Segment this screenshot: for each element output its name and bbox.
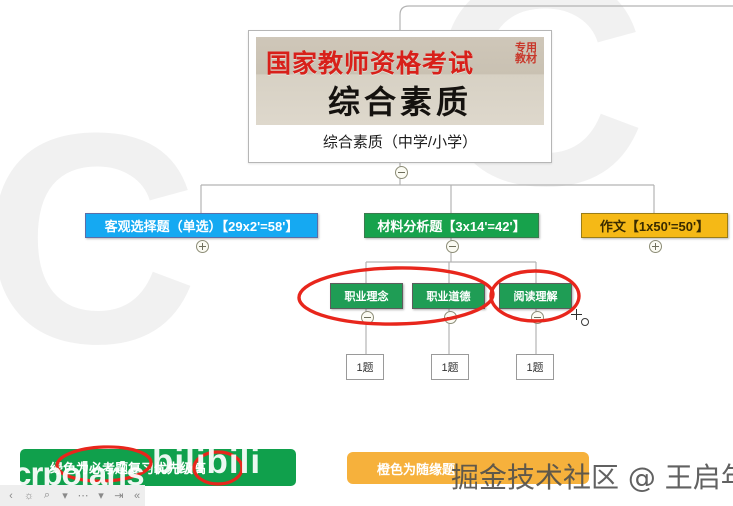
expand-badge-essay[interactable] [649,240,662,253]
search-chevron-down-icon[interactable]: ▾ [57,487,73,504]
banner-orange-note: 橙色为随缘题 [347,452,589,484]
crosshair-cursor [571,309,589,327]
book-title-red-suffix: 专用 教材 [515,43,537,65]
collapse-badge-professional-ethics[interactable] [444,311,457,324]
search-icon[interactable]: ⌕ [39,487,55,504]
cursor-circle [581,318,589,326]
double-chevron-left-icon[interactable]: « [129,487,145,504]
book-title-black: 综合素质 [256,77,544,123]
node-professional-ethics[interactable]: 职业道德 [412,283,485,309]
book-suffix-line2: 教材 [515,54,537,65]
bottom-toolbar: ‹ ☼ ⌕ ▾ ⋯ ▾ ⇥ « [0,485,145,506]
collapse-badge-professional-concept[interactable] [361,311,374,324]
book-cover-image: 国家教师资格考试 专用 教材 综合素质 [256,37,544,125]
lightbulb-icon[interactable]: ☼ [21,487,37,504]
node-objective-choice[interactable]: 客观选择题（单选）【29x2'=58'】 [85,213,318,238]
leaf-node[interactable]: 1题 [346,354,384,380]
node-essay[interactable]: 作文【1x50'=50'】 [581,213,728,238]
more-chevron-down-icon[interactable]: ▾ [93,487,109,504]
node-material-analysis[interactable]: 材料分析题【3x14'=42'】 [364,213,539,238]
book-title-red: 国家教师资格考试 [266,44,474,80]
export-icon[interactable]: ⇥ [111,487,127,504]
root-node[interactable]: 国家教师资格考试 专用 教材 综合素质 综合素质（中学/小学） [248,30,552,163]
leaf-node[interactable]: 1题 [431,354,469,380]
chevron-left-icon[interactable]: ‹ [3,487,19,504]
collapse-badge-material-analysis[interactable] [446,240,459,253]
ellipsis-icon[interactable]: ⋯ [75,487,91,504]
mindmap-canvas: C C 国家教师资格考试 [0,0,733,506]
node-reading-comprehension[interactable]: 阅读理解 [499,283,572,309]
node-professional-concept[interactable]: 职业理念 [330,283,403,309]
collapse-badge-root[interactable] [395,166,408,179]
collapse-badge-reading-comprehension[interactable] [531,311,544,324]
cursor-vertical-bar [576,309,577,320]
leaf-node[interactable]: 1题 [516,354,554,380]
banner-green-note: 绿色为必考题复习优先级高 [20,449,296,486]
expand-badge-objective-choice[interactable] [196,240,209,253]
root-caption: 综合素质（中学/小学） [256,131,544,152]
